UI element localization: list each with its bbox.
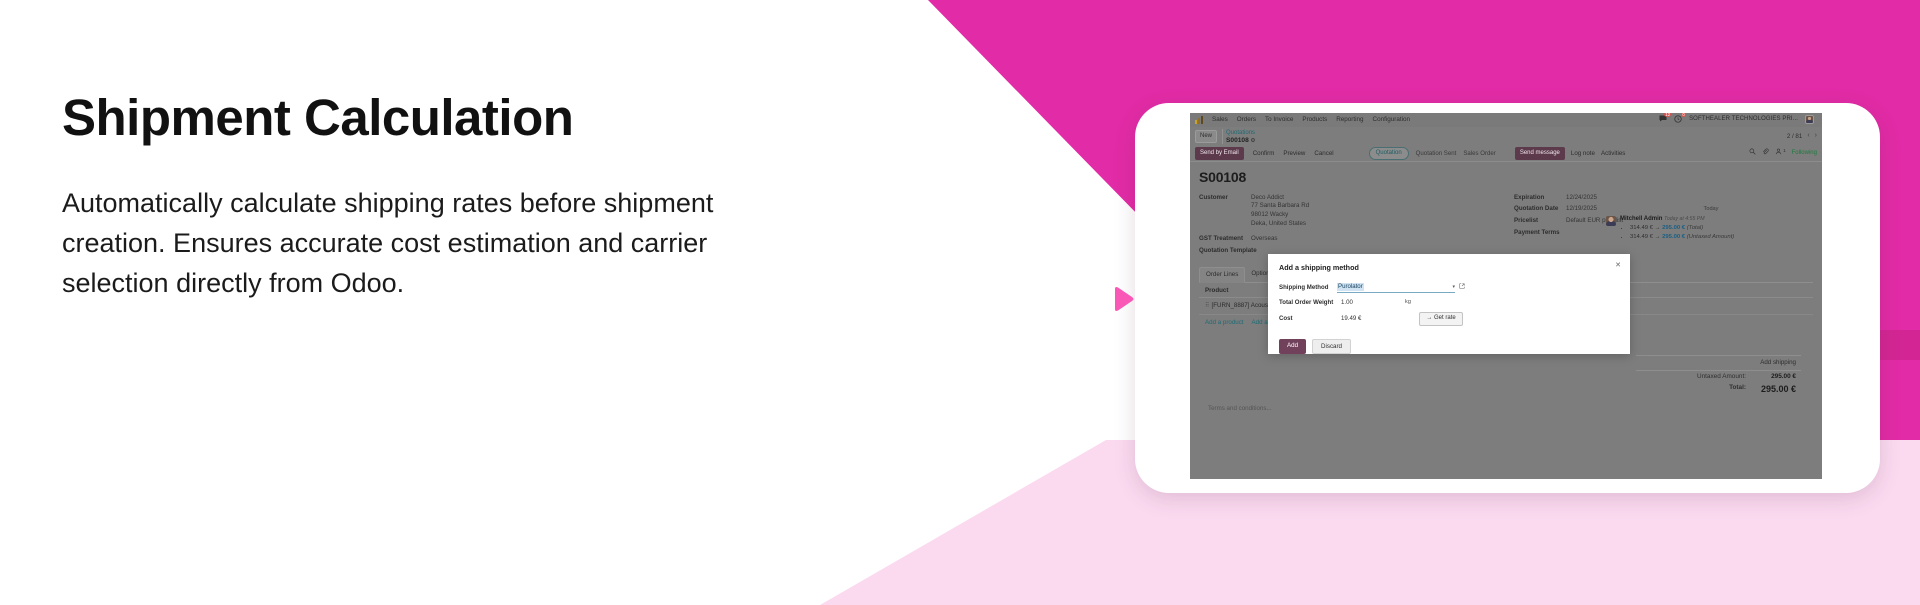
total-order-weight-unit: kg: [1405, 299, 1411, 306]
shipping-method-select[interactable]: Purolator ▾: [1337, 283, 1455, 293]
shipping-method-value: Purolator: [1337, 283, 1364, 291]
untaxed-amount-label: Untaxed Amount:: [1697, 373, 1746, 381]
field-cost: Cost 19.49 € → Get rate: [1279, 312, 1619, 326]
field-label-quotation-date: Quotation Date: [1514, 205, 1566, 213]
menu-item-reporting[interactable]: Reporting: [1336, 116, 1363, 124]
log-note-button[interactable]: Log note: [1571, 150, 1595, 158]
chatter-day-separator: Today: [1606, 206, 1816, 213]
paperclip-glyph: [1762, 148, 1769, 155]
activities-button[interactable]: Activities: [1601, 150, 1625, 158]
odoo-breadcrumb-row: New Quotations S00108 ⚙ 2 / 81 ‹ ›: [1190, 127, 1822, 146]
field-gst-treatment: GST Treatment Overseas: [1199, 235, 1498, 243]
menu-item-products[interactable]: Products: [1302, 116, 1327, 124]
form-left-column: Customer Deco Addict 77 Santa Barbara Rd…: [1199, 194, 1498, 259]
internal-link-glyph: [1459, 283, 1465, 289]
field-shipping-method: Shipping Method Purolator ▾: [1279, 283, 1619, 293]
dialog-title: Add a shipping method: [1279, 263, 1619, 272]
play-triangle-icon: [1105, 283, 1139, 317]
dialog-body: Shipping Method Purolator ▾: [1279, 283, 1619, 326]
totals-untaxed-row: Untaxed Amount: 295.00 €: [1636, 371, 1801, 382]
chatter-meta-icons: 1 Following: [1749, 148, 1817, 159]
odoo-bar-chart-icon[interactable]: [1195, 116, 1203, 124]
new-record-button[interactable]: New: [1195, 130, 1217, 144]
play-badge[interactable]: [1101, 279, 1143, 321]
arrow-right-icon: →: [1655, 234, 1661, 240]
company-switcher[interactable]: SOFTHEALER TECHNOLOGIES PRI...: [1689, 116, 1798, 124]
chatter-message-body: Mitchell Admin Today at 4:55 PM 314.49 €…: [1620, 216, 1734, 243]
shipping-method-field: Purolator ▾: [1337, 283, 1455, 293]
menu-item-sales[interactable]: Sales: [1212, 116, 1228, 124]
field-label-gst-treatment: GST Treatment: [1199, 235, 1251, 243]
cancel-button[interactable]: Cancel: [1314, 150, 1333, 158]
followers-count: 1: [1783, 148, 1785, 153]
field-label-total-order-weight: Total Order Weight: [1279, 299, 1341, 307]
messages-icon[interactable]: 12: [1659, 115, 1667, 125]
tracking-values: 314.49 € → 295.00 € (Total) 314.49 € → 2…: [1624, 225, 1734, 241]
close-x-icon[interactable]: ✕: [1615, 262, 1621, 271]
field-label-payment-terms: Payment Terms: [1514, 229, 1566, 237]
user-avatar[interactable]: [1805, 115, 1814, 124]
cost-value: 19.49 €: [1341, 315, 1361, 323]
field-total-order-weight: Total Order Weight 1.00 kg: [1279, 299, 1619, 307]
magnifier-glyph: [1749, 148, 1756, 155]
status-quotation[interactable]: Quotation: [1369, 147, 1409, 161]
menu-item-configuration[interactable]: Configuration: [1373, 116, 1410, 124]
text-block: Shipment Calculation Automatically calcu…: [62, 90, 722, 304]
order-totals: Add shipping Untaxed Amount: 295.00 € To…: [1199, 355, 1813, 395]
breadcrumb-parent[interactable]: Quotations: [1226, 130, 1255, 136]
activities-clock-icon[interactable]: 0: [1674, 115, 1682, 126]
add-shipping-button[interactable]: Add shipping: [1636, 355, 1801, 371]
field-label-quotation-template: Quotation Template: [1199, 247, 1269, 255]
arrow-right-icon: →: [1426, 315, 1432, 321]
add-a-product-link[interactable]: Add a product: [1205, 319, 1244, 327]
chevron-left-icon[interactable]: ‹: [1807, 132, 1809, 141]
messages-badge: 12: [1664, 113, 1671, 117]
status-sales-order[interactable]: Sales Order: [1463, 150, 1496, 158]
page-title: Shipment Calculation: [62, 90, 722, 146]
add-shipping-method-dialog: Add a shipping method ✕ Shipping Method …: [1268, 254, 1630, 354]
discard-button[interactable]: Discard: [1312, 339, 1351, 355]
field-value-quotation-date[interactable]: 12/19/2025: [1566, 205, 1597, 213]
followers-glyph: [1775, 148, 1782, 155]
field-label-pricelist: Pricelist: [1514, 217, 1566, 225]
totals-inner: Add shipping Untaxed Amount: 295.00 € To…: [1636, 355, 1801, 395]
field-customer: Customer Deco Addict 77 Santa Barbara Rd…: [1199, 194, 1498, 230]
send-message-button[interactable]: Send message: [1515, 147, 1565, 160]
chevron-right-icon[interactable]: ›: [1815, 132, 1817, 141]
field-label-shipping-method: Shipping Method: [1279, 284, 1337, 292]
customer-city: 98012 Wacky: [1251, 211, 1309, 220]
tablet-screen: Sales Orders To Invoice Products Reporti…: [1190, 113, 1822, 479]
following-label[interactable]: Following: [1792, 150, 1817, 158]
chatter-author[interactable]: Mitchell Admin: [1620, 216, 1662, 222]
tracking-new-value: 295.00 €: [1662, 234, 1685, 240]
send-by-email-button[interactable]: Send by Email: [1195, 147, 1244, 160]
chatter-timestamp: Today at 4:55 PM: [1664, 216, 1704, 222]
menu-item-to-invoice[interactable]: To Invoice: [1265, 116, 1293, 124]
total-value: 295.00 €: [1754, 384, 1796, 395]
unsaved-changes-icon[interactable]: ⚙: [1250, 138, 1255, 144]
total-order-weight-value[interactable]: 1.00: [1341, 299, 1353, 307]
navbar-menu: Sales Orders To Invoice Products Reporti…: [1212, 116, 1410, 124]
customer-street: 77 Santa Barbara Rd: [1251, 202, 1309, 211]
drag-handle-icon[interactable]: ⠿: [1205, 302, 1209, 310]
odoo-action-bar: Send by Email Confirm Preview Cancel Quo…: [1190, 146, 1822, 162]
tracking-old-value: 314.49 €: [1630, 234, 1653, 240]
terms-and-conditions[interactable]: Terms and conditions...: [1199, 395, 1813, 413]
navbar-right: 12 0 SOFTHEALER TECHNOLOGIES PRI...: [1659, 115, 1817, 126]
activities-badge: 0: [1681, 113, 1686, 117]
field-value-gst-treatment[interactable]: Overseas: [1251, 235, 1277, 243]
get-rate-button[interactable]: → Get rate: [1419, 312, 1462, 326]
tracking-field-name: (Untaxed Amount): [1687, 234, 1735, 240]
field-label-cost: Cost: [1279, 315, 1341, 323]
status-quotation-sent[interactable]: Quotation Sent: [1416, 150, 1457, 158]
avatar: [1606, 216, 1616, 226]
field-expiration: Expiration 12/24/2025: [1514, 194, 1813, 202]
paperclip-icon[interactable]: [1762, 148, 1769, 159]
status-bar: Quotation Quotation Sent Sales Order: [1369, 147, 1496, 161]
tab-order-lines[interactable]: Order Lines: [1199, 267, 1245, 283]
odoo-app: Sales Orders To Invoice Products Reporti…: [1190, 113, 1822, 479]
record-title: S00108: [1199, 169, 1813, 187]
field-value-expiration[interactable]: 12/24/2025: [1566, 194, 1597, 202]
tracking-field-name: (Total): [1687, 225, 1703, 231]
chatter-panel: Today Mitchell Admin Today at 4:55 PM 31…: [1606, 206, 1816, 243]
get-rate-label: Get rate: [1434, 315, 1456, 321]
field-label-expiration: Expiration: [1514, 194, 1566, 202]
breadcrumb-current: S00108: [1226, 137, 1249, 144]
odoo-navbar: Sales Orders To Invoice Products Reporti…: [1190, 113, 1822, 127]
record-pager: 2 / 81 ‹ ›: [1787, 132, 1817, 141]
total-label: Total:: [1729, 384, 1746, 395]
chatter-message: Mitchell Admin Today at 4:55 PM 314.49 €…: [1606, 216, 1816, 243]
internal-link-icon[interactable]: [1459, 283, 1465, 293]
preview-button[interactable]: Preview: [1283, 150, 1305, 158]
pager-count: 2 / 81: [1787, 133, 1802, 141]
field-value-customer[interactable]: Deco Addict 77 Santa Barbara Rd 98012 Wa…: [1251, 194, 1309, 230]
field-label-customer: Customer: [1199, 194, 1251, 230]
dialog-footer: Add Discard: [1279, 339, 1619, 355]
customer-name: Deco Addict: [1251, 194, 1309, 203]
tracking-new-value: 295.00 €: [1662, 225, 1685, 231]
followers-icon[interactable]: 1: [1775, 148, 1786, 159]
customer-country: Deka, United States: [1251, 220, 1309, 229]
confirm-button[interactable]: Confirm: [1253, 150, 1275, 158]
untaxed-amount-value: 295.00 €: [1754, 373, 1796, 381]
breadcrumb: Quotations S00108 ⚙: [1222, 129, 1255, 144]
add-button[interactable]: Add: [1279, 339, 1306, 355]
slide-canvas: Shipment Calculation Automatically calcu…: [0, 0, 1920, 605]
odoo-form-sheet: S00108 Customer Deco Addict 77 Santa Bar…: [1190, 162, 1822, 413]
totals-total-row: Total: 295.00 €: [1636, 381, 1801, 395]
menu-item-orders[interactable]: Orders: [1237, 116, 1256, 124]
magnifier-icon[interactable]: [1749, 148, 1756, 159]
arrow-right-icon: →: [1655, 225, 1661, 231]
tracking-row: 314.49 € → 295.00 € (Untaxed Amount): [1630, 234, 1734, 241]
dropdown-caret-icon[interactable]: ▾: [1452, 284, 1455, 290]
tracking-old-value: 314.49 €: [1630, 225, 1653, 231]
tracking-row: 314.49 € → 295.00 € (Total): [1630, 225, 1734, 232]
page-description: Automatically calculate shipping rates b…: [62, 184, 722, 304]
chatter-action-buttons: Send message Log note Activities: [1515, 147, 1626, 160]
